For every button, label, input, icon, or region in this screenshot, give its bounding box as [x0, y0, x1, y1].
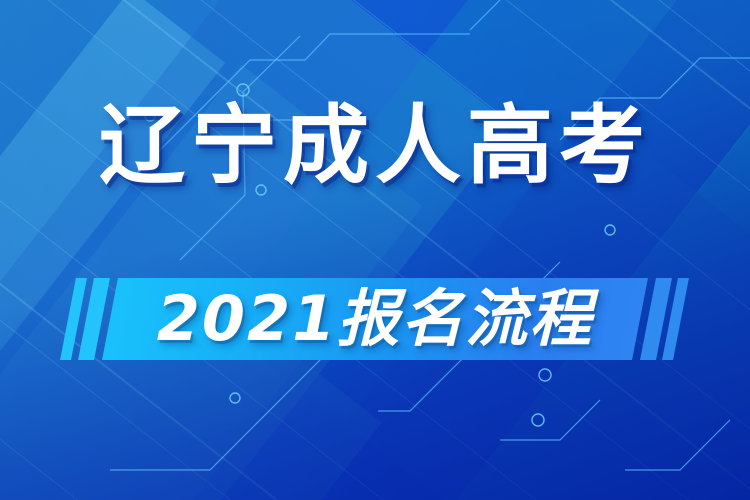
page-title: 辽宁成人高考	[99, 103, 651, 189]
poster-canvas: 辽宁成人高考 2021报名流程	[0, 0, 750, 500]
background-shadow-overlay	[0, 0, 750, 500]
main-title-container: 辽宁成人高考	[0, 103, 750, 189]
subtitle-banner-container: 2021报名流程	[0, 271, 750, 367]
subtitle-text: 2021报名流程	[0, 280, 750, 358]
